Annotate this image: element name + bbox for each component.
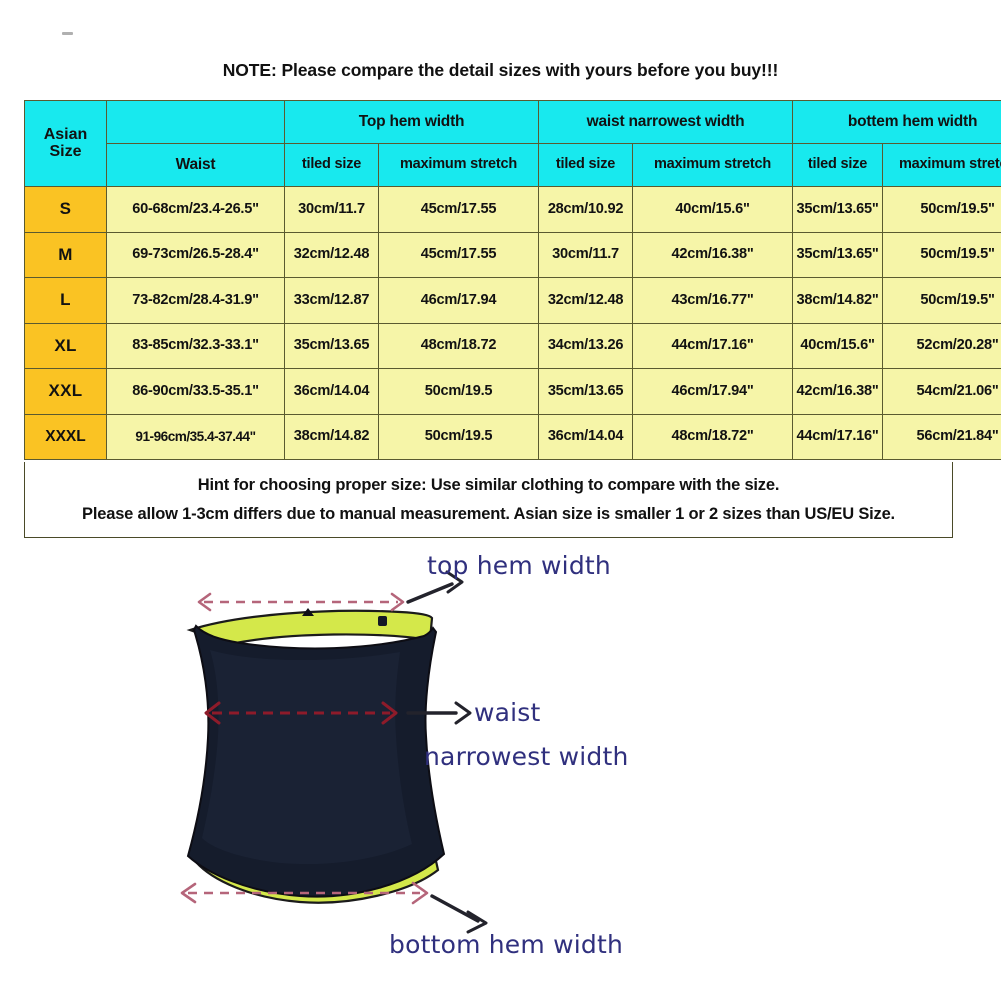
cell-waist-stretch: 44cm/17.16" bbox=[633, 323, 793, 369]
label-bottom-hem-width: bottom hem width bbox=[389, 930, 623, 959]
cell-waist-tiled: 36cm/14.04 bbox=[539, 414, 633, 460]
header-bottom-maximum-stretch: maximum stretch bbox=[883, 144, 1001, 187]
header-waist-narrowest-width: waist narrowest width bbox=[539, 101, 793, 144]
cell-waist: 73-82cm/28.4-31.9" bbox=[107, 278, 285, 324]
header-asian-size-line1: Asian bbox=[44, 126, 88, 143]
cell-top-tiled: 35cm/13.65 bbox=[285, 323, 379, 369]
label-waist-narrowest-width: narrowest width bbox=[424, 742, 629, 771]
cell-waist: 91-96cm/35.4-37.44" bbox=[107, 414, 285, 460]
hint-footer: Hint for choosing proper size: Use simil… bbox=[24, 462, 953, 538]
size-table: Asian Size Top hem width waist narrowest… bbox=[24, 100, 1001, 460]
cell-waist: 86-90cm/33.5-35.1" bbox=[107, 369, 285, 415]
cell-waist-stretch: 40cm/15.6" bbox=[633, 187, 793, 233]
cell-top-tiled: 30cm/11.7 bbox=[285, 187, 379, 233]
cell-top-stretch: 50cm/19.5 bbox=[379, 414, 539, 460]
header-waist: Waist bbox=[107, 144, 285, 187]
header-bottom-tiled-size: tiled size bbox=[793, 144, 883, 187]
size-table-container: Asian Size Top hem width waist narrowest… bbox=[24, 100, 955, 460]
cell-waist-tiled: 30cm/11.7 bbox=[539, 232, 633, 278]
cell-bottom-stretch: 56cm/21.84" bbox=[883, 414, 1001, 460]
cell-bottom-tiled: 35cm/13.65" bbox=[793, 232, 883, 278]
bottom-hem-leader-line bbox=[432, 896, 486, 932]
cell-bottom-stretch: 52cm/20.28" bbox=[883, 323, 1001, 369]
hint-line-1: Hint for choosing proper size: Use simil… bbox=[198, 471, 779, 500]
garment-body-sheen bbox=[202, 650, 412, 864]
cell-bottom-stretch: 50cm/19.5" bbox=[883, 232, 1001, 278]
table-row: S 60-68cm/23.4-26.5" 30cm/11.7 45cm/17.5… bbox=[25, 187, 1001, 233]
cell-top-tiled: 38cm/14.82 bbox=[285, 414, 379, 460]
table-row: M 69-73cm/26.5-28.4" 32cm/12.48 45cm/17.… bbox=[25, 232, 1001, 278]
cell-waist: 60-68cm/23.4-26.5" bbox=[107, 187, 285, 233]
table-row: XXXL 91-96cm/35.4-37.44" 38cm/14.82 50cm… bbox=[25, 414, 1001, 460]
cell-bottom-stretch: 50cm/19.5" bbox=[883, 278, 1001, 324]
cell-top-stretch: 45cm/17.55 bbox=[379, 232, 539, 278]
cell-top-tiled: 33cm/12.87 bbox=[285, 278, 379, 324]
top-right-tab bbox=[378, 616, 387, 626]
label-waist: waist bbox=[474, 698, 541, 727]
cell-waist-tiled: 35cm/13.65 bbox=[539, 369, 633, 415]
cell-size: XXXL bbox=[25, 414, 107, 460]
size-chart-page: NOTE: Please compare the detail sizes wi… bbox=[0, 0, 1001, 1001]
cell-top-tiled: 36cm/14.04 bbox=[285, 369, 379, 415]
cell-top-stretch: 50cm/19.5 bbox=[379, 369, 539, 415]
table-row: L 73-82cm/28.4-31.9" 33cm/12.87 46cm/17.… bbox=[25, 278, 1001, 324]
cell-waist: 83-85cm/32.3-33.1" bbox=[107, 323, 285, 369]
cell-bottom-tiled: 40cm/15.6" bbox=[793, 323, 883, 369]
cell-top-stretch: 45cm/17.55 bbox=[379, 187, 539, 233]
cell-bottom-stretch: 50cm/19.5" bbox=[883, 187, 1001, 233]
label-top-hem-width: top hem width bbox=[427, 551, 611, 580]
table-sub-header-row: Waist tiled size maximum stretch tiled s… bbox=[25, 144, 1001, 187]
cell-waist-tiled: 34cm/13.26 bbox=[539, 323, 633, 369]
header-top-hem-width: Top hem width bbox=[285, 101, 539, 144]
cell-bottom-stretch: 54cm/21.06" bbox=[883, 369, 1001, 415]
cell-size: XXL bbox=[25, 369, 107, 415]
cell-bottom-tiled: 44cm/17.16" bbox=[793, 414, 883, 460]
header-top-tiled-size: tiled size bbox=[285, 144, 379, 187]
top-hem-measure-arrow bbox=[199, 594, 403, 610]
note-headline: NOTE: Please compare the detail sizes wi… bbox=[0, 60, 1001, 81]
header-bottom-hem-width: bottem hem width bbox=[793, 101, 1001, 144]
cell-waist-stretch: 42cm/16.38" bbox=[633, 232, 793, 278]
cell-bottom-tiled: 42cm/16.38" bbox=[793, 369, 883, 415]
hint-line-2: Please allow 1-3cm differs due to manual… bbox=[82, 500, 895, 529]
table-row: XXL 86-90cm/33.5-35.1" 36cm/14.04 50cm/1… bbox=[25, 369, 1001, 415]
header-asian-size: Asian Size bbox=[25, 101, 107, 187]
cell-waist-stretch: 48cm/18.72" bbox=[633, 414, 793, 460]
cell-waist: 69-73cm/26.5-28.4" bbox=[107, 232, 285, 278]
table-group-header-row: Asian Size Top hem width waist narrowest… bbox=[25, 101, 1001, 144]
cell-waist-stretch: 43cm/16.77" bbox=[633, 278, 793, 324]
cell-top-tiled: 32cm/12.48 bbox=[285, 232, 379, 278]
cell-size: S bbox=[25, 187, 107, 233]
cell-waist-tiled: 32cm/12.48 bbox=[539, 278, 633, 324]
cell-top-stretch: 48cm/18.72 bbox=[379, 323, 539, 369]
cell-size: XL bbox=[25, 323, 107, 369]
cell-top-stretch: 46cm/17.94 bbox=[379, 278, 539, 324]
cell-size: M bbox=[25, 232, 107, 278]
cell-waist-tiled: 28cm/10.92 bbox=[539, 187, 633, 233]
cell-waist-stretch: 46cm/17.94" bbox=[633, 369, 793, 415]
cell-size: L bbox=[25, 278, 107, 324]
header-asian-size-line2: Size bbox=[49, 143, 81, 160]
image-artifact-speck bbox=[62, 32, 73, 35]
header-top-maximum-stretch: maximum stretch bbox=[379, 144, 539, 187]
header-waist-maximum-stretch: maximum stretch bbox=[633, 144, 793, 187]
header-waist-group-blank bbox=[107, 101, 285, 144]
table-row: XL 83-85cm/32.3-33.1" 35cm/13.65 48cm/18… bbox=[25, 323, 1001, 369]
header-waist-tiled-size: tiled size bbox=[539, 144, 633, 187]
cell-bottom-tiled: 35cm/13.65" bbox=[793, 187, 883, 233]
cell-bottom-tiled: 38cm/14.82" bbox=[793, 278, 883, 324]
